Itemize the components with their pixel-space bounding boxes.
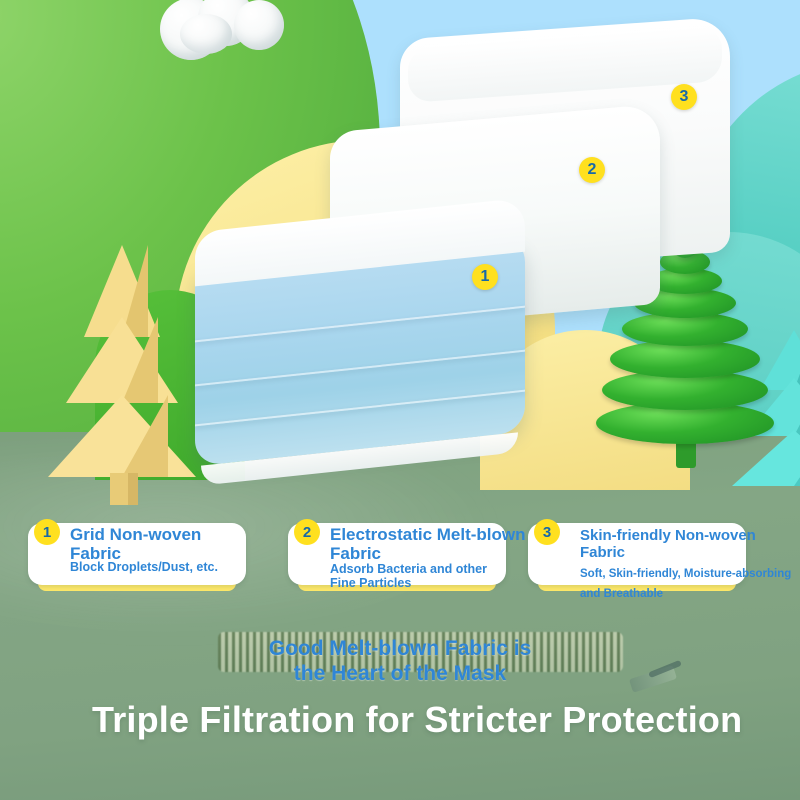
- mask-badge-2: 2: [579, 157, 605, 183]
- card-subtitle-line1: Soft, Skin-friendly, Moisture-absorbing: [580, 567, 800, 581]
- headline-text: Triple Filtration for Stricter Protectio…: [92, 698, 800, 742]
- card-badge-2: 2: [294, 519, 320, 545]
- slogan-text: Good Melt-blown Fabric is the Heart of t…: [170, 636, 630, 686]
- mask-badge-1: 1: [472, 264, 498, 290]
- card-title-line1: Skin-friendly Non-woven: [580, 527, 800, 544]
- card-subtitle-line2: Fine Particles: [330, 576, 590, 591]
- poster-stage: 1 2 3 1 Grid Non-woven Fabric Block Drop…: [0, 0, 800, 800]
- cloud-icon: [160, 0, 300, 64]
- slogan-line1: Good Melt-blown Fabric is: [170, 636, 630, 661]
- yellow-tree-icon: [48, 245, 198, 505]
- card-text-1: Grid Non-woven Fabric Block Droplets/Dus…: [70, 525, 330, 575]
- card-title-line1: Grid Non-woven: [70, 525, 330, 544]
- card-title-line2: Fabric: [580, 544, 800, 561]
- card-title-line2: Fabric: [330, 544, 590, 563]
- mask-layer-1-blue: [195, 215, 525, 465]
- info-card-1[interactable]: 1 Grid Non-woven Fabric Block Droplets/D…: [28, 523, 246, 591]
- card-subtitle-line2: and Breathable: [580, 587, 800, 601]
- card-text-3: Skin-friendly Non-woven Fabric Soft, Ski…: [580, 527, 800, 601]
- card-badge-1: 1: [34, 519, 60, 545]
- info-card-list: 1 Grid Non-woven Fabric Block Droplets/D…: [0, 523, 800, 609]
- card-subtitle-line1: Adsorb Bacteria and other: [330, 562, 590, 577]
- mask-badge-3: 3: [671, 84, 697, 110]
- slogan-line2: the Heart of the Mask: [170, 661, 630, 686]
- card-subtitle-line1: Block Droplets/Dust, etc.: [70, 560, 330, 575]
- card-badge-3: 3: [534, 519, 560, 545]
